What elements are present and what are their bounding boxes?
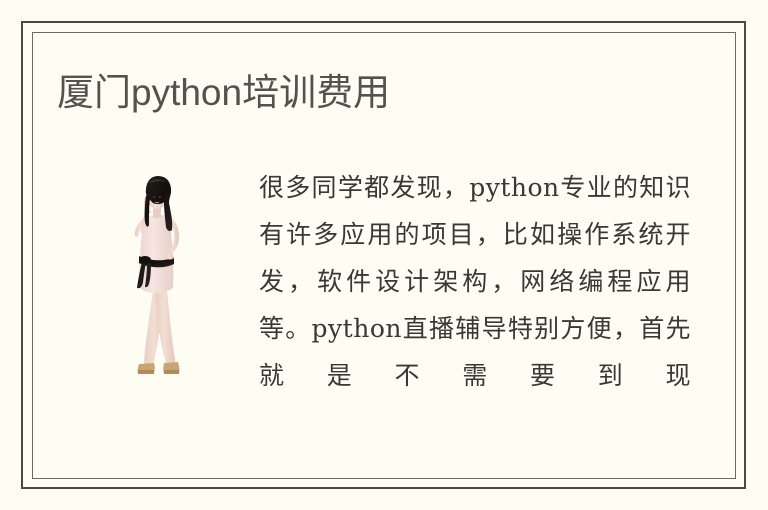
page-root: 厦门python培训费用 [0, 0, 768, 510]
article-container: 厦门python培训费用 [33, 33, 735, 478]
woman-photo [109, 170, 209, 380]
decorative-outer-frame: 厦门python培训费用 [21, 21, 746, 489]
article-paragraph: 很多同学都发现，python专业的知识有许多应用的项目，比如操作系统开发，软件设… [259, 164, 691, 399]
page-title: 厦门python培训费用 [57, 69, 390, 117]
decorative-inner-frame: 厦门python培训费用 [32, 32, 736, 479]
article-body: 很多同学都发现，python专业的知识有许多应用的项目，比如操作系统开发，软件设… [57, 164, 713, 466]
